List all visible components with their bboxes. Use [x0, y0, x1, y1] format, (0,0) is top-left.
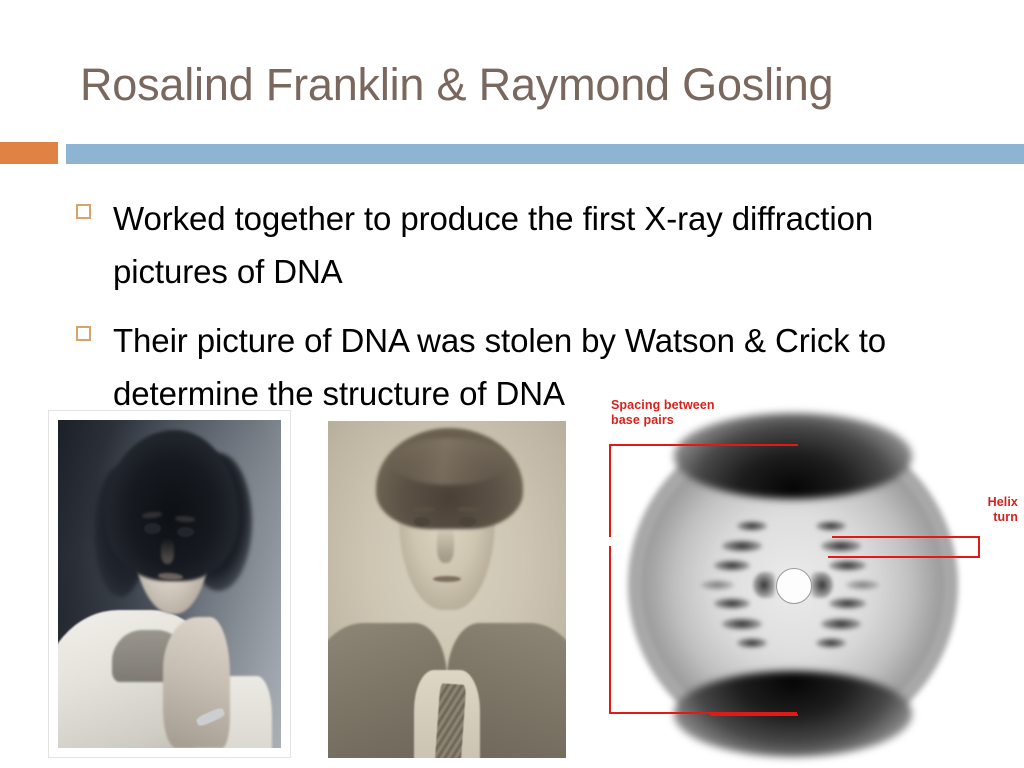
annotation-line-helix-top: [832, 536, 980, 538]
xray-beam-stop: [776, 568, 812, 604]
portrait-eye-right: [177, 527, 194, 537]
xray-reflection-spot: [701, 580, 734, 590]
divider-accent-block: [0, 142, 58, 164]
annotation-line-spacing-spine-upper: [609, 444, 611, 537]
xray-diffraction-plate: [628, 420, 958, 750]
portrait-nose: [437, 525, 454, 562]
xray-reflection-spot: [846, 580, 879, 590]
xray-reflection-spot: [816, 638, 846, 649]
portrait-franklin-image: [58, 420, 281, 748]
page-title: Rosalind Franklin & Raymond Gosling: [80, 57, 960, 113]
annotation-line-spacing-top-extension: [710, 444, 798, 446]
annotation-line-helix-right: [978, 536, 980, 558]
xray-reflection-spot: [737, 638, 767, 649]
portrait-eye-right: [459, 517, 476, 526]
annotation-label-spacing-between-base-pairs: Spacing between base pairs: [611, 398, 715, 428]
xray-diffraction-photo-51: Spacing between base pairs Helix turn: [600, 394, 1024, 768]
portrait-eye-left: [414, 517, 431, 526]
hollow-square-bullet-icon: [76, 204, 91, 219]
portrait-raymond-gosling: [328, 421, 566, 758]
xray-reflection-spot: [714, 598, 750, 609]
presentation-slide: Rosalind Franklin & Raymond Gosling Work…: [0, 0, 1024, 768]
xray-reflection-spot: [821, 618, 861, 630]
xray-reflection-spot: [821, 540, 861, 552]
annotation-line-spacing-spine-lower: [609, 546, 611, 713]
xray-reflection-spot: [829, 598, 865, 609]
annotation-line-spacing-bottom-extension: [710, 714, 798, 716]
annotation-label-line-1: Spacing between: [611, 398, 715, 413]
xray-reflection-spot: [722, 540, 762, 552]
xray-reflection-spot: [816, 521, 846, 532]
annotation-label-line-1: Helix: [954, 495, 1018, 510]
list-item: Worked together to produce the first X-r…: [76, 192, 976, 298]
xray-reflection-spot: [714, 560, 750, 571]
portrait-rosalind-franklin: [48, 410, 291, 758]
annotation-label-helix-turn: Helix turn: [954, 495, 1018, 525]
xray-reflection-spot: [829, 560, 865, 571]
annotation-label-line-2: turn: [954, 510, 1018, 525]
xray-reflection-spot: [722, 618, 762, 630]
xray-reflection-spot: [737, 521, 767, 532]
portrait-hand: [163, 617, 230, 748]
hollow-square-bullet-icon: [76, 326, 91, 341]
portrait-eye-left: [144, 523, 161, 533]
annotation-line-helix-bottom: [828, 556, 980, 558]
annotation-label-line-2: base pairs: [611, 413, 715, 428]
portrait-nose: [161, 538, 174, 564]
xray-beamstop-shadow-right: [811, 572, 833, 598]
bullet-text: Worked together to produce the first X-r…: [113, 192, 976, 298]
divider-bar: [66, 144, 1024, 164]
portrait-hair-highlight: [390, 438, 509, 485]
xray-beamstop-shadow-left: [753, 572, 775, 598]
